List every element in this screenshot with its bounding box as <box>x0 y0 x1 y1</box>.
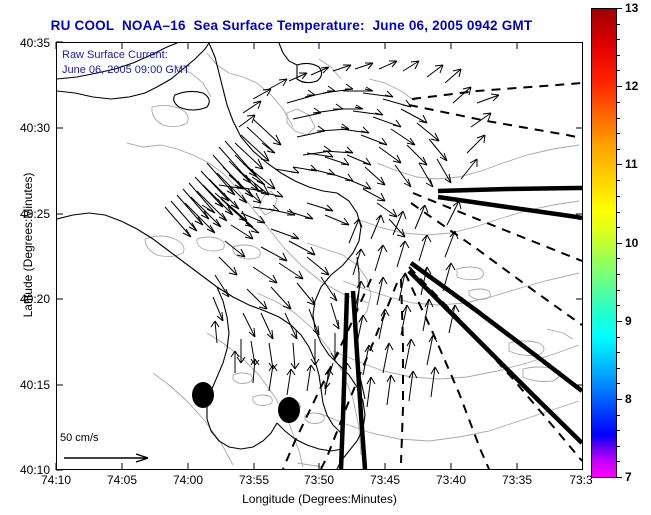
x-axis-label: Longitude (Degrees:Minutes) <box>56 492 583 506</box>
scale-label: 50 cm/s <box>60 432 99 444</box>
colorbar-label-9: 9 <box>625 314 632 328</box>
x-tick-7: 73:35 <box>502 473 532 487</box>
colorbar-tick-10 <box>617 243 622 244</box>
x-tick-3: 73:55 <box>239 473 269 487</box>
x-tick-2: 74:00 <box>173 473 203 487</box>
x-tick-5: 73:45 <box>370 473 400 487</box>
colorbar-label-8: 8 <box>625 392 632 406</box>
x-tick-8: 73:3 <box>569 473 592 487</box>
colorbar-label-13: 13 <box>625 1 638 15</box>
colorbar-tick-7 <box>617 477 622 478</box>
y-tick-0: 40:35 <box>0 36 50 50</box>
map-plot-area[interactable] <box>56 42 583 470</box>
colorbar-label-10: 10 <box>625 236 638 250</box>
bathymetry-contours <box>127 53 579 467</box>
colorbar-tick-13 <box>617 8 622 9</box>
map-graphics <box>57 43 582 469</box>
x-tick-4: 73:50 <box>304 473 334 487</box>
figure-canvas: RU COOL NOAA–16 Sea Surface Temperature:… <box>0 0 651 515</box>
colorbar-tick-9 <box>617 321 622 322</box>
right-arrow-icon <box>62 451 172 465</box>
colorbar-gradient <box>591 8 617 478</box>
coastline <box>57 43 365 469</box>
figure-title: RU COOL NOAA–16 Sea Surface Temperature:… <box>0 18 583 33</box>
colorbar[interactable]: 13 12 11 10 9 8 7 <box>591 8 617 478</box>
y-tick-4: 40:15 <box>0 378 50 392</box>
x-tick-6: 73:40 <box>436 473 466 487</box>
colorbar-tick-8 <box>617 399 622 400</box>
colorbar-tick-11 <box>617 164 622 165</box>
colorbar-tick-12 <box>617 86 622 87</box>
y-tick-5: 40:10 <box>0 463 50 477</box>
radar-station-markers <box>192 382 300 423</box>
y-tick-1: 40:30 <box>0 121 50 135</box>
colorbar-label-7: 7 <box>625 470 632 484</box>
colorbar-label-12: 12 <box>625 79 638 93</box>
y-axis-label: Latitude (Degrees:Minutes) <box>21 155 35 335</box>
velocity-scale-legend: 50 cm/s <box>60 432 180 468</box>
colorbar-label-11: 11 <box>625 157 638 171</box>
x-tick-1: 74:05 <box>107 473 137 487</box>
